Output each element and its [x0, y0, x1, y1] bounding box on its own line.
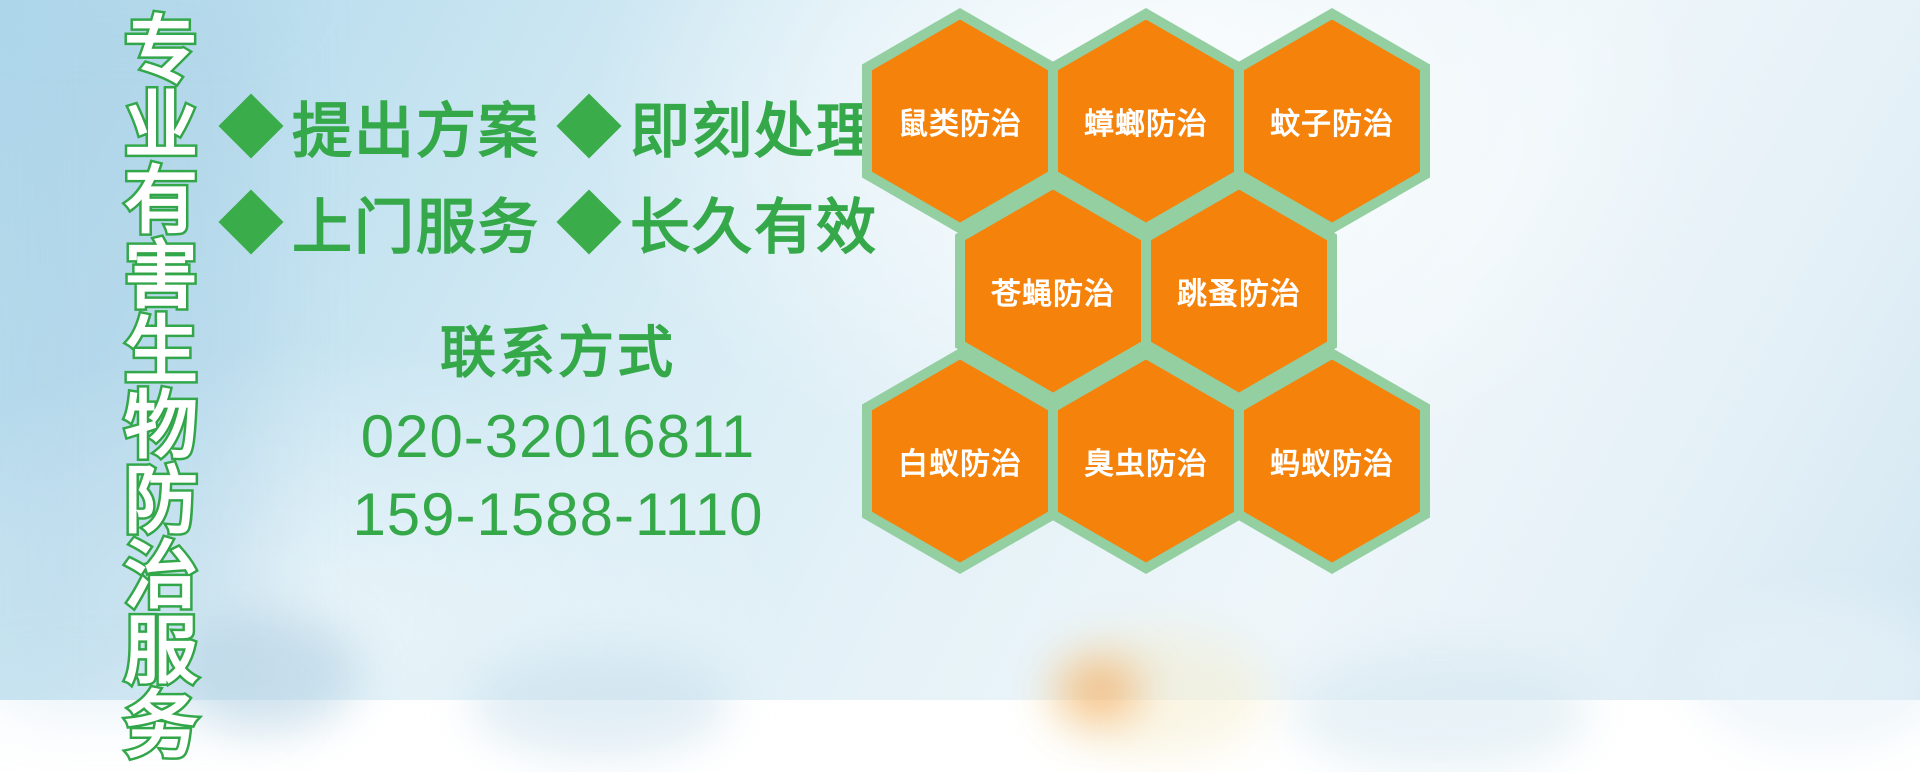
- diamond-icon: [556, 93, 621, 158]
- vertical-title-char: 防: [124, 464, 198, 538]
- service-hex-label: 蚊子防治: [1270, 99, 1394, 143]
- background-bokeh-3: [1040, 630, 1270, 760]
- service-hex-label: 白蚁防治: [898, 439, 1022, 483]
- service-hex-label: 臭虫防治: [1084, 439, 1208, 483]
- slogan-label: 上门服务: [292, 179, 540, 266]
- diamond-icon: [218, 189, 283, 254]
- slogan-label: 即刻处理: [630, 83, 878, 170]
- service-hex-inner: 臭虫防治: [1058, 360, 1234, 563]
- service-hex-label: 蚂蚁防治: [1270, 439, 1394, 483]
- slogan-row: 上门服务 长久有效: [228, 174, 888, 270]
- slogan-label: 长久有效: [630, 179, 878, 266]
- contact-title: 联系方式: [228, 318, 888, 388]
- vertical-title-char: 服: [124, 614, 198, 688]
- pest-control-banner: 专 业 有 害 生 物 防 治 服 务 提出方案 即刻处理 上门服务: [0, 0, 1920, 700]
- vertical-title-char: 治: [124, 539, 198, 613]
- vertical-title-char: 业: [124, 89, 198, 163]
- contact-block: 联系方式 020-32016811 159-1588-1110: [228, 318, 888, 554]
- background-bokeh-4: [1290, 652, 1590, 772]
- service-hex-inner: 蟑螂防治: [1058, 20, 1234, 223]
- slogan-item: 长久有效: [566, 179, 878, 266]
- vertical-title-char: 专: [124, 14, 198, 88]
- slogan-row: 提出方案 即刻处理: [228, 78, 888, 174]
- service-hex-label: 跳蚤防治: [1177, 269, 1301, 313]
- service-hex-inner: 蚂蚁防治: [1244, 360, 1420, 563]
- vertical-title: 专 业 有 害 生 物 防 治 服 务: [108, 14, 214, 686]
- vertical-title-char: 务: [124, 689, 198, 763]
- phone-number-mobile[interactable]: 159-1588-1110: [228, 476, 888, 554]
- diamond-icon: [218, 93, 283, 158]
- vertical-title-char: 害: [124, 239, 198, 313]
- service-hex-label: 鼠类防治: [898, 99, 1022, 143]
- slogan-item: 即刻处理: [566, 83, 878, 170]
- background-bokeh-orange: [1060, 660, 1140, 720]
- service-hexagon-grid: 鼠类防治 蟑螂防治 蚊子防治 苍蝇防治 跳蚤防治 白蚁防治: [856, 0, 1456, 580]
- service-hex-label: 苍蝇防治: [991, 269, 1115, 313]
- service-hex-inner: 蚊子防治: [1244, 20, 1420, 223]
- phone-number-landline[interactable]: 020-32016811: [228, 398, 888, 476]
- slogan-item: 提出方案: [228, 83, 540, 170]
- vertical-title-char: 生: [124, 314, 198, 388]
- service-hex-inner: 跳蚤防治: [1151, 190, 1327, 393]
- diamond-icon: [556, 189, 621, 254]
- slogan-label: 提出方案: [292, 83, 540, 170]
- slogan-list: 提出方案 即刻处理 上门服务 长久有效: [228, 78, 888, 270]
- service-hex-inner: 鼠类防治: [872, 20, 1048, 223]
- slogan-item: 上门服务: [228, 179, 540, 266]
- background-bokeh-5: [1690, 600, 1920, 750]
- vertical-title-char: 有: [124, 164, 198, 238]
- service-hex-inner: 白蚁防治: [872, 360, 1048, 563]
- service-hex-inner: 苍蝇防治: [965, 190, 1141, 393]
- background-bokeh-2: [470, 648, 730, 758]
- service-hex-label: 蟑螂防治: [1084, 99, 1208, 143]
- vertical-title-char: 物: [124, 389, 198, 463]
